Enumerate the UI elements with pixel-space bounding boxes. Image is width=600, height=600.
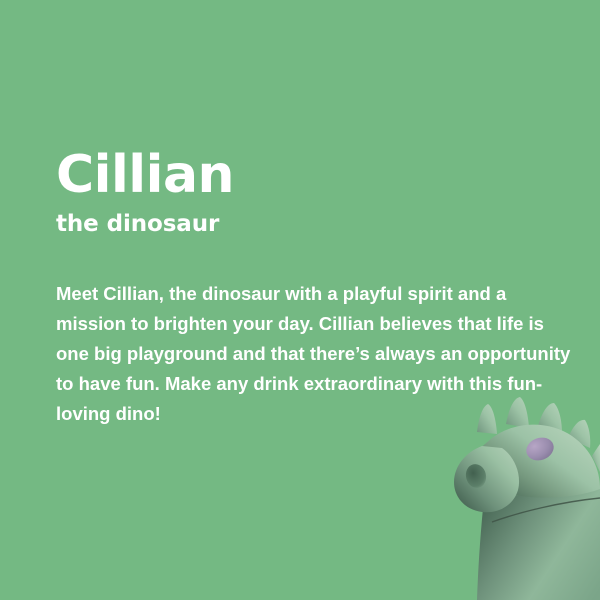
character-description: Meet Cillian, the dinosaur with a playfu… <box>56 237 572 429</box>
dino-nostril <box>463 462 488 490</box>
dino-neck <box>477 486 600 600</box>
character-card: Cillian the dinosaur Meet Cillian, the d… <box>0 0 600 600</box>
page-title: Cillian <box>56 0 576 203</box>
dino-head <box>476 425 600 498</box>
dino-neck-seam <box>492 498 600 522</box>
dino-snout <box>454 446 519 512</box>
page-subtitle: the dinosaur <box>56 203 576 237</box>
dino-eye <box>523 434 557 464</box>
card-content: Cillian the dinosaur Meet Cillian, the d… <box>56 0 576 429</box>
